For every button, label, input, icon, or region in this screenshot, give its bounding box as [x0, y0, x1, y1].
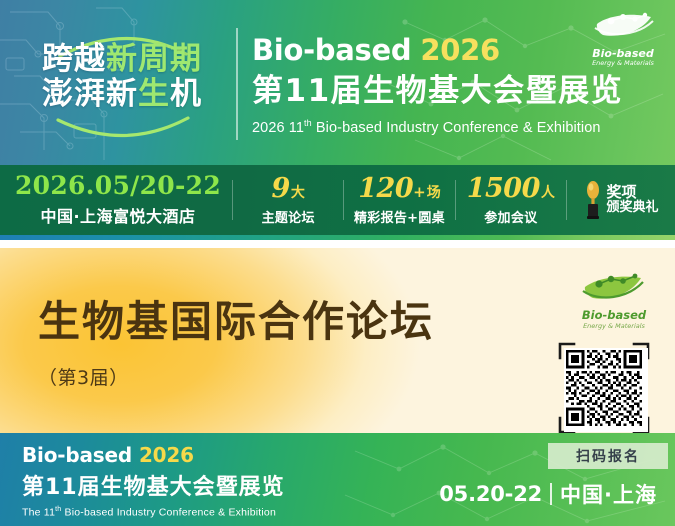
- slogan-line-2-part-b: 生: [138, 76, 170, 112]
- leaf-molecule-icon: [575, 270, 653, 304]
- stats-inner: 2026.05/20-22 中国·上海富悦大酒店 9大 主题论坛 120+场 精…: [0, 165, 675, 235]
- header-year: 2026: [420, 33, 500, 67]
- event-venue: 中国·上海富悦大酒店: [4, 203, 232, 227]
- stat-reports-label: 精彩报告+圆桌: [346, 207, 452, 226]
- trophy-icon: [583, 178, 603, 222]
- footer-title-cn: 第11届生物基大会暨展览: [22, 477, 285, 499]
- header-title-en: 2026 11th Bio-based Industry Conference …: [252, 118, 623, 136]
- stat-reports-plus: +: [413, 183, 426, 201]
- footer-title-en-pre: The 11: [22, 507, 55, 519]
- main-content: 生物基国际合作论坛 （第3届） Bio-based Energy & Mater…: [0, 248, 675, 433]
- header-title-en-pre: 2026 11: [252, 120, 304, 136]
- header-brand: Bio-based: [252, 33, 411, 67]
- footer-title-en: The 11th Bio-based Industry Conference &…: [22, 506, 285, 519]
- award-text: 奖项 颁奖典礼: [606, 184, 658, 216]
- stat-reports-unit: 场: [427, 185, 441, 201]
- footer-brand-line: Bio-based2026: [22, 445, 285, 465]
- header-title-en-post: Bio-based Industry Conference & Exhibiti…: [312, 120, 601, 136]
- footer-title-block: Bio-based2026 第11届生物基大会暨展览 The 11th Bio-…: [22, 445, 285, 519]
- forum-title: 生物基国际合作论坛: [38, 301, 434, 343]
- stat-forums-label: 主题论坛: [235, 207, 341, 226]
- footer-city: 中国·上海: [560, 479, 657, 509]
- stat-reports: 120+场 精彩报告+圆桌: [344, 175, 454, 226]
- forum-edition: （第3届）: [38, 363, 129, 390]
- stat-forums-number: 9: [272, 173, 290, 204]
- stat-forums-unit: 大: [291, 185, 305, 201]
- award-title: 奖项: [606, 184, 658, 201]
- slogan-line-2: 澎湃新生机: [22, 77, 222, 112]
- qr-code[interactable]: [564, 348, 648, 432]
- stat-reports-value: 120+场: [346, 175, 452, 202]
- logo-wordmark-main: Bio-based: [575, 310, 653, 322]
- header-title-block: Bio-based2026 第11届生物基大会暨展览 2026 11th Bio…: [252, 36, 623, 136]
- footer-brand: Bio-based: [22, 443, 132, 467]
- footer-date-location: 05.20-22 中国·上海: [439, 479, 657, 509]
- footer-year: 2026: [139, 443, 194, 467]
- header-title-cn: 第11届生物基大会暨展览: [252, 76, 623, 107]
- event-date-block: 2026.05/20-22 中国·上海富悦大酒店: [0, 173, 232, 226]
- qr-code-image[interactable]: [566, 350, 642, 426]
- slogan-line-1: 跨越新周期: [22, 42, 222, 77]
- header-banner: 跨越新周期 澎湃新生机 Bio-based2026 第11届生物基大会暨展览 2…: [0, 0, 675, 165]
- header-vertical-divider: [236, 28, 238, 140]
- header-title-en-sup: th: [304, 118, 312, 128]
- logo-wordmark-header: Bio-based: [581, 48, 665, 59]
- event-date: 2026.05/20-22: [4, 173, 232, 199]
- footer-title-en-post: Bio-based Industry Conference & Exhibiti…: [61, 507, 276, 519]
- stat-attendees-label: 参加会议: [458, 207, 564, 226]
- qr-caption: 扫码报名: [548, 443, 668, 469]
- stat-forums-value: 9大: [235, 175, 341, 202]
- slogan-line-2-part-a: 澎湃新: [42, 76, 138, 112]
- stat-award: 奖项 颁奖典礼: [567, 178, 675, 222]
- bio-based-logo-header: Bio-based Energy & Materials: [581, 8, 665, 60]
- bio-based-logo-main: Bio-based Energy & Materials: [575, 270, 653, 322]
- slogan-line-1-part-b: 新周期: [106, 41, 202, 77]
- footer-separator: [550, 483, 552, 505]
- stat-attendees-number: 1500: [467, 173, 540, 204]
- logo-tagline-main: Energy & Materials: [575, 323, 653, 330]
- qr-caption-text: 扫码报名: [576, 446, 640, 466]
- white-gap: [0, 240, 675, 248]
- slogan-line-2-part-c: 机: [170, 76, 202, 112]
- leaf-molecule-icon: [581, 8, 665, 42]
- stat-attendees: 1500人 参加会议: [456, 175, 566, 226]
- slogan-line-1-part-a: 跨越: [42, 41, 106, 77]
- stat-reports-number: 120: [358, 173, 413, 204]
- footer-date: 05.20-22: [439, 482, 542, 506]
- stat-attendees-value: 1500人: [458, 175, 564, 202]
- stats-bar: 2026.05/20-22 中国·上海富悦大酒店 9大 主题论坛 120+场 精…: [0, 165, 675, 235]
- stat-forums: 9大 主题论坛: [233, 175, 343, 226]
- event-poster: 跨越新周期 澎湃新生机 Bio-based2026 第11届生物基大会暨展览 2…: [0, 0, 675, 526]
- logo-tagline-header: Energy & Materials: [581, 60, 665, 67]
- slogan-text: 跨越新周期 澎湃新生机: [22, 42, 222, 111]
- stat-attendees-unit: 人: [541, 185, 555, 201]
- award-label: 颁奖典礼: [606, 200, 658, 216]
- header-brand-line: Bio-based2026: [252, 36, 623, 65]
